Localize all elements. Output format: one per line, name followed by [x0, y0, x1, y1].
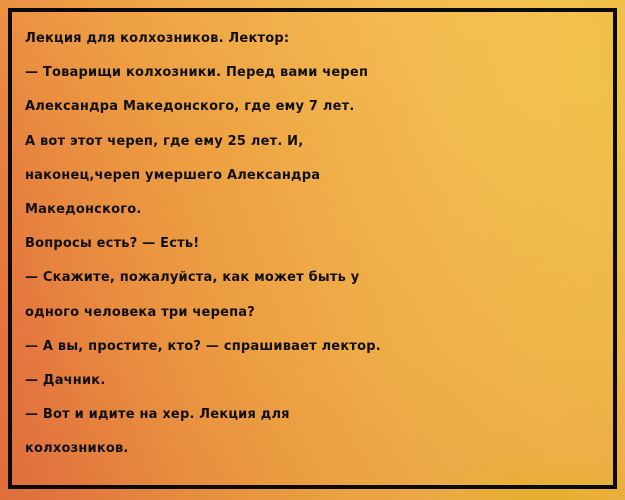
- joke-line: А вот этот череп, где ему 25 лет. И,: [25, 125, 605, 159]
- joke-line: — А вы, простите, кто? — спрашивает лект…: [25, 330, 605, 364]
- joke-line: колхозников.: [25, 432, 605, 466]
- joke-line: Вопросы есть? — Есть!: [25, 227, 605, 261]
- joke-line: Лекция для колхозников. Лектор:: [25, 22, 605, 56]
- joke-line: одного человека три черепа?: [25, 296, 605, 330]
- joke-line: Александра Македонского, где ему 7 лет.: [25, 90, 605, 124]
- joke-line: — Вот и идите на хер. Лекция для: [25, 398, 605, 432]
- joke-line: Македонского.: [25, 193, 605, 227]
- joke-line: наконец,череп умершего Александра: [25, 159, 605, 193]
- meme-card: Лекция для колхозников. Лектор: — Товари…: [0, 0, 625, 500]
- joke-line: — Скажите, пожалуйста, как может быть у: [25, 261, 605, 295]
- joke-line: — Товарищи колхозники. Перед вами череп: [25, 56, 605, 90]
- joke-line: — Дачник.: [25, 364, 605, 398]
- joke-text-block: Лекция для колхозников. Лектор: — Товари…: [25, 22, 605, 466]
